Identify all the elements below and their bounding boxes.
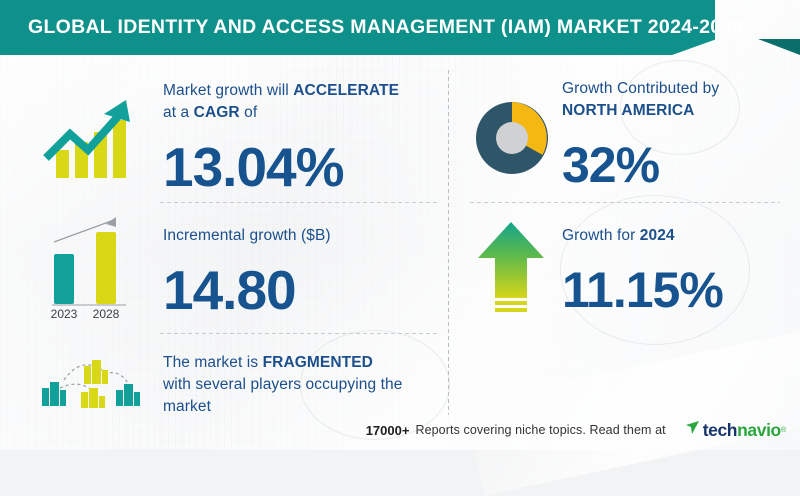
- growth-2024-caption: Growth for 2024: [562, 225, 794, 247]
- fragmentation-block: The market is FRAGMENTED with several pl…: [163, 352, 448, 418]
- incremental-growth-caption: Incremental growth ($B): [163, 225, 443, 247]
- cagr-caption: Market growth will ACCELERATE at a CAGR …: [163, 80, 443, 124]
- donut-chart-icon: [466, 92, 558, 184]
- cagr-value: 13.04%: [163, 140, 443, 195]
- bar-label-2023: 2023: [51, 307, 78, 321]
- header-fold-corner: [758, 39, 800, 55]
- regional-name: NORTH AMERICA: [562, 102, 694, 119]
- footer-content: 17000+ Reports covering niche topics. Re…: [366, 419, 800, 441]
- fragmented-market-icon: [26, 348, 144, 412]
- logo-text-navio: navio: [737, 420, 781, 441]
- growth-2024-block: Growth for 2024 11.15%: [562, 225, 794, 315]
- growth-2024-value: 11.15%: [562, 265, 794, 315]
- up-arrow-icon: [474, 218, 548, 318]
- logo-trademark: ®: [781, 427, 786, 434]
- regional-caption-text: Growth Contributed by: [562, 80, 719, 97]
- right-divider-1: [470, 202, 780, 203]
- column-divider: [448, 70, 449, 415]
- cagr-caption-text-1: Market growth will: [163, 82, 293, 99]
- growth-2024-text: Growth for: [562, 227, 640, 244]
- cagr-block: Market growth will ACCELERATE at a CAGR …: [163, 80, 443, 195]
- footer-text: Reports covering niche topics. Read them…: [415, 423, 665, 437]
- page-title: GLOBAL IDENTITY AND ACCESS MANAGEMENT (I…: [28, 0, 744, 55]
- cagr-caption-accelerate: ACCELERATE: [293, 82, 399, 99]
- fragmentation-caption: The market is FRAGMENTED with several pl…: [163, 352, 448, 418]
- bar-label-2028: 2028: [93, 307, 120, 321]
- cagr-caption-text-3: of: [240, 104, 258, 121]
- left-divider-2: [160, 333, 440, 334]
- technavio-mark-icon: [684, 419, 701, 441]
- growth-2024-year: 2024: [640, 227, 675, 244]
- fragmentation-badge: FRAGMENTED: [263, 354, 373, 371]
- incremental-growth-block: Incremental growth ($B) 14.80: [163, 225, 443, 318]
- bar-chart-icon: 2023 2028: [26, 212, 141, 322]
- footer-bar: 17000+ Reports covering niche topics. Re…: [0, 410, 800, 450]
- report-count: 17000+: [366, 423, 410, 438]
- regional-contribution-caption: Growth Contributed by NORTH AMERICA: [562, 78, 794, 122]
- infographic-body: Market growth will ACCELERATE at a CAGR …: [0, 0, 800, 450]
- regional-contribution-value: 32%: [562, 140, 794, 190]
- cagr-caption-text-2: at a: [163, 104, 194, 121]
- growth-chart-icon: [30, 88, 140, 188]
- incremental-growth-value: 14.80: [163, 263, 443, 318]
- regional-contribution-block: Growth Contributed by NORTH AMERICA 32%: [562, 78, 794, 190]
- left-divider-1: [160, 202, 440, 203]
- fragmentation-text-1: The market is: [163, 354, 263, 371]
- technavio-logo[interactable]: technavio®: [684, 419, 786, 441]
- logo-text-tech: tech: [703, 420, 737, 441]
- cagr-caption-cagr: CAGR: [194, 104, 240, 121]
